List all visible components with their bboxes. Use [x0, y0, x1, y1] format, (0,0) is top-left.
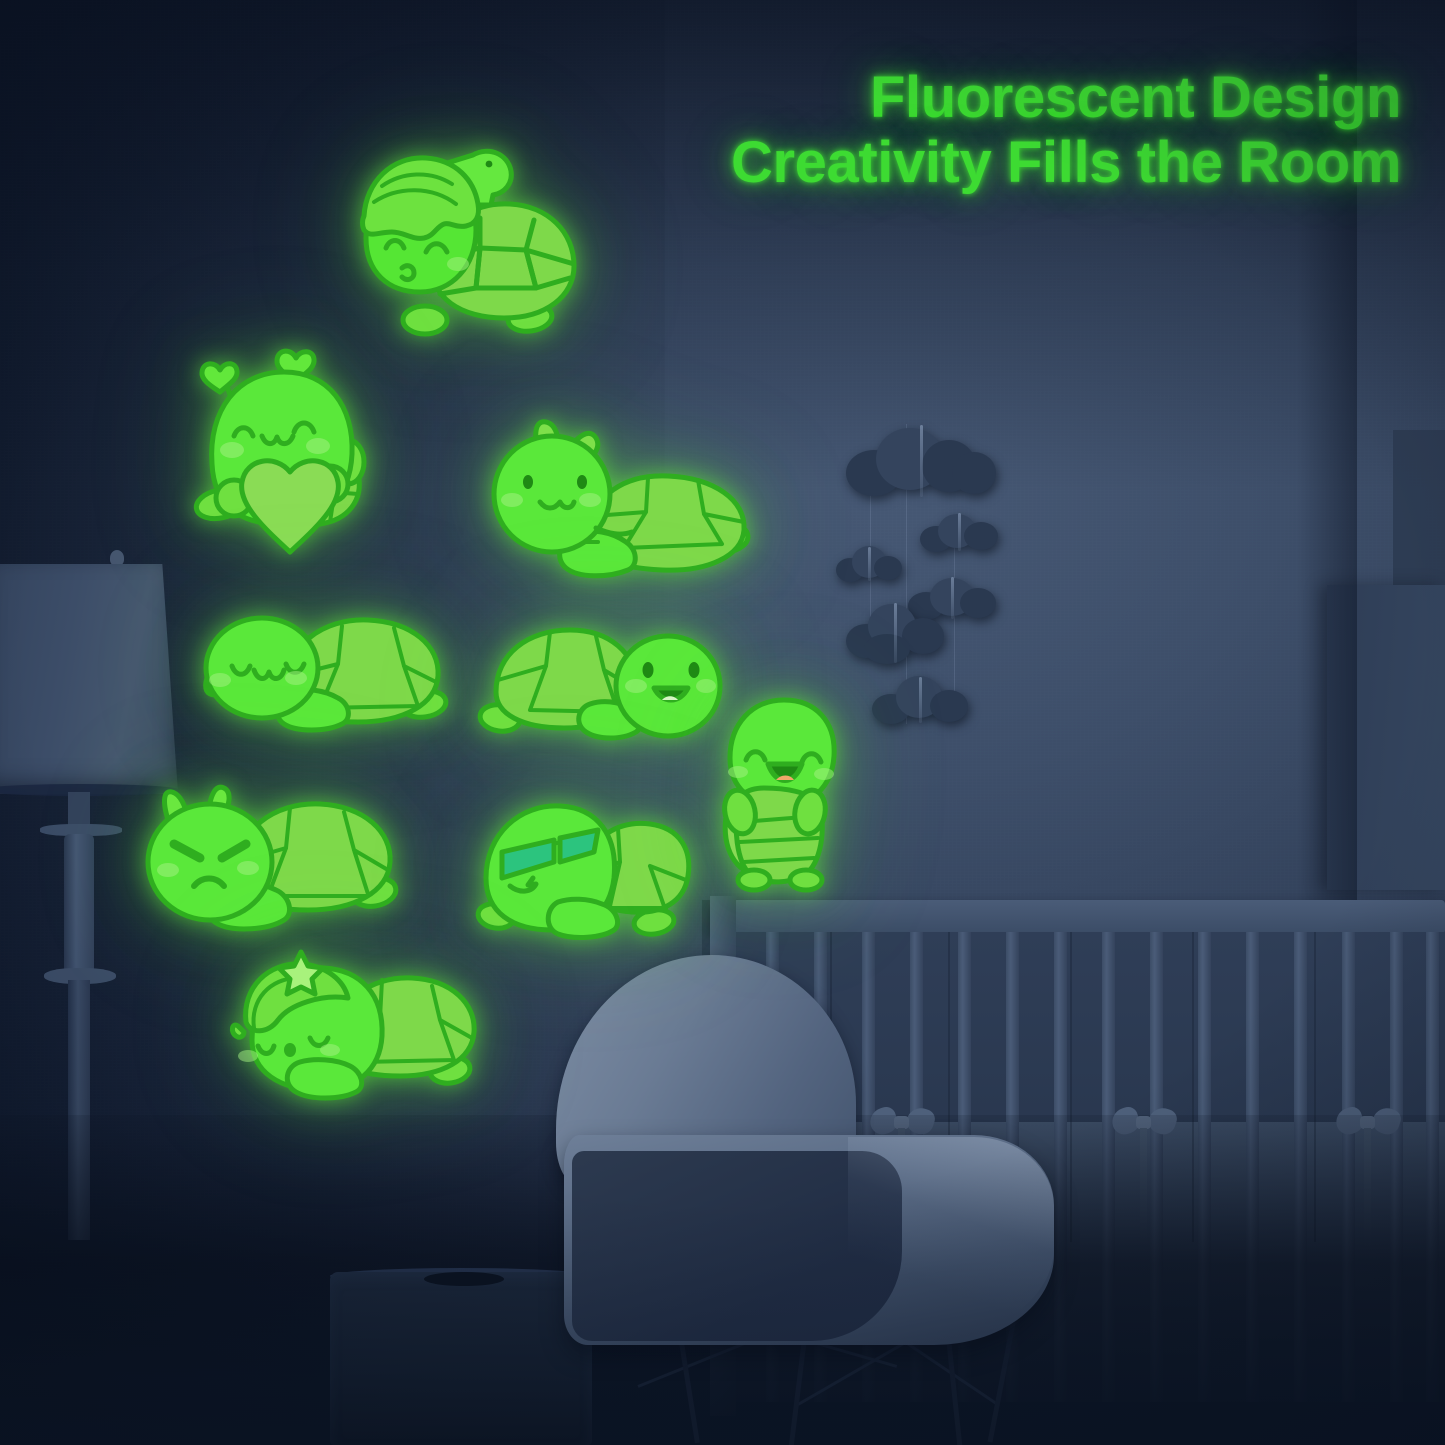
scene-vignette — [0, 0, 1445, 1445]
nursery-scene: Fluorescent Design Creativity Fills the … — [0, 0, 1445, 1445]
